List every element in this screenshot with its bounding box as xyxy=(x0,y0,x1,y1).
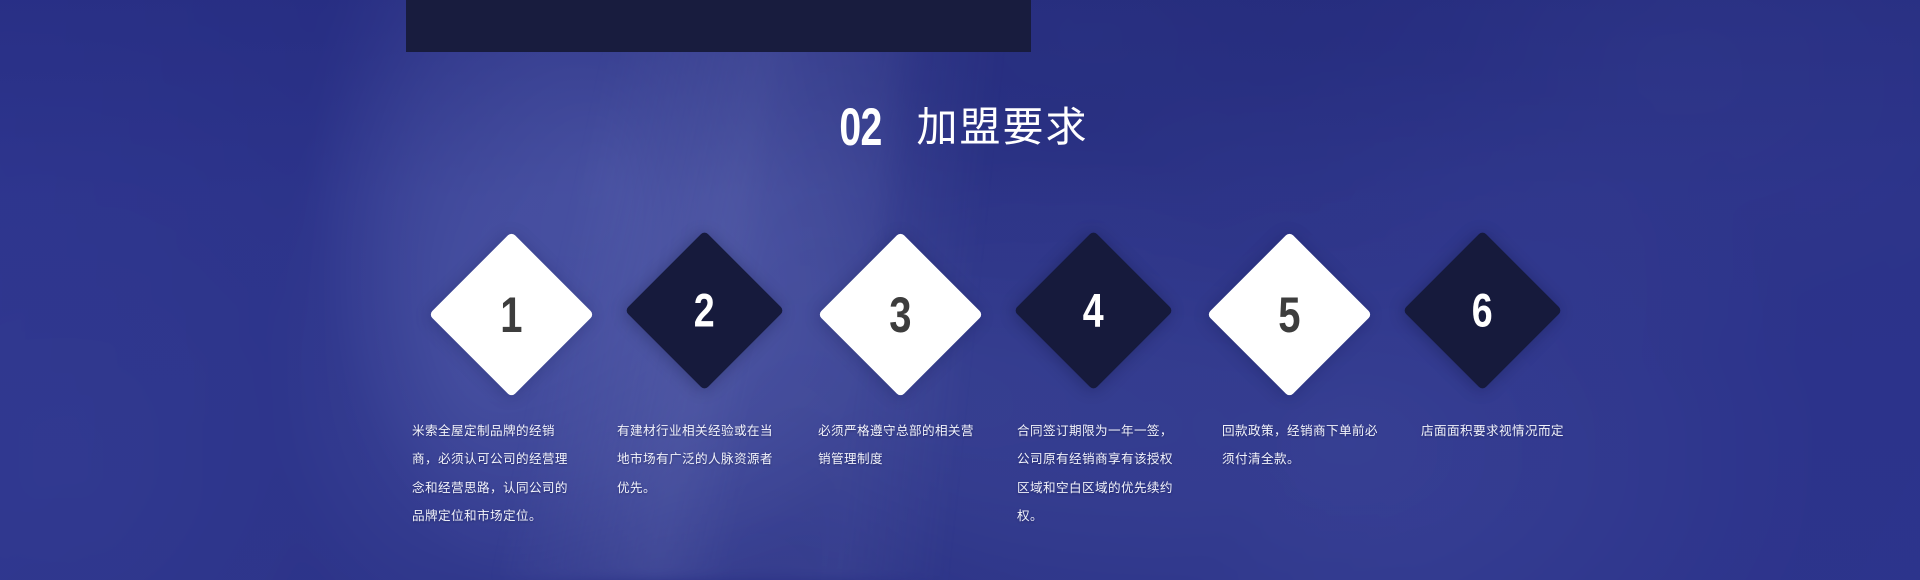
diamond-number-3: 3 xyxy=(889,290,911,340)
diamond-number-2: 2 xyxy=(694,287,715,334)
diamond-shape-6[interactable]: 6 xyxy=(1403,231,1563,391)
diamond-shape-1[interactable]: 1 xyxy=(429,232,594,397)
diamond-shape-5[interactable]: 5 xyxy=(1207,232,1372,397)
diamond-shape-4[interactable]: 4 xyxy=(1014,231,1174,391)
diamond-row: 1 米索全屋定制品牌的经销商，必须认可公司的经营理念和经营思路，认同公司的品牌定… xyxy=(0,0,1920,580)
diamond-number-4: 4 xyxy=(1083,287,1104,334)
caption-2: 有建材行业相关经验或在当地市场有广泛的人脉资源者优先。 xyxy=(617,417,773,502)
slide-canvas: 02 加盟要求 1 米索全屋定制品牌的经销商，必须认可公司的经营理念和经营思路，… xyxy=(0,0,1920,580)
diamond-shape-2[interactable]: 2 xyxy=(625,231,785,391)
diamond-number-5: 5 xyxy=(1278,290,1300,340)
caption-3: 必须严格遵守总部的相关营销管理制度 xyxy=(818,417,974,474)
diamond-shape-3[interactable]: 3 xyxy=(818,232,983,397)
diamond-number-6: 6 xyxy=(1472,287,1493,334)
caption-4: 合同签订期限为一年一签，公司原有经销商享有该授权区域和空白区域的优先续约权。 xyxy=(1017,417,1173,531)
diamond-number-1: 1 xyxy=(500,290,522,340)
caption-1: 米索全屋定制品牌的经销商，必须认可公司的经营理念和经营思路，认同公司的品牌定位和… xyxy=(412,417,568,531)
caption-5: 回款政策，经销商下单前必须付清全款。 xyxy=(1222,417,1378,474)
caption-6: 店面面积要求视情况而定 xyxy=(1421,417,1577,445)
